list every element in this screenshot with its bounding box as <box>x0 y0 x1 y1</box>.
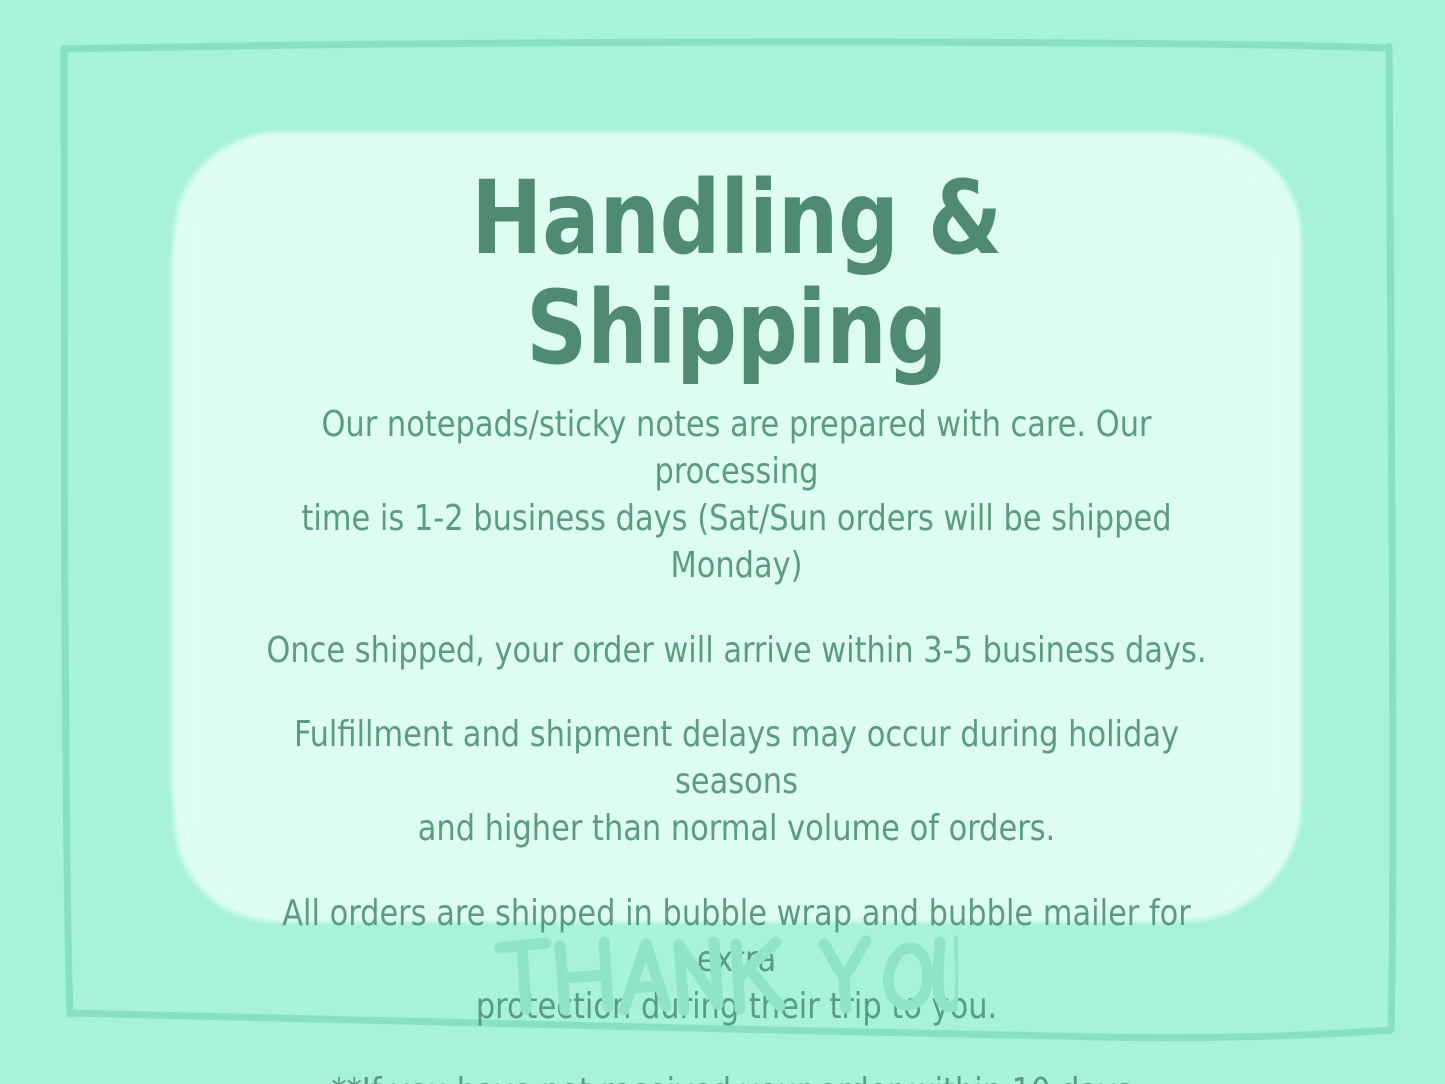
poster-canvas: Handling & Shipping Our notepads/sticky … <box>0 0 1445 1084</box>
paragraph-packaging: All orders are shipped in bubble wrap an… <box>243 891 1229 1031</box>
paragraph-processing-time: Our notepads/sticky notes are prepared w… <box>243 402 1229 589</box>
paragraph-delivery-window: Once shipped, your order will arrive wit… <box>243 628 1229 675</box>
paragraph-holiday-delays: Fulfillment and shipment delays may occu… <box>243 712 1229 852</box>
page-title: Handling & Shipping <box>249 164 1225 384</box>
paragraph-support-note: **If you have not received your order wi… <box>243 1069 1229 1084</box>
card-content: Handling & Shipping Our notepads/sticky … <box>178 138 1295 918</box>
content-card: Handling & Shipping Our notepads/sticky … <box>178 138 1295 918</box>
